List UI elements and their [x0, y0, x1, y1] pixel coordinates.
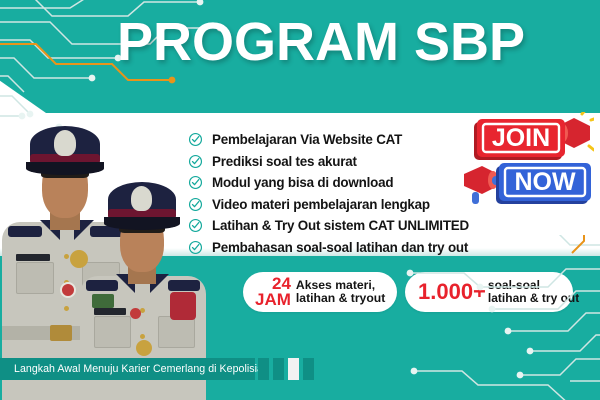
- feature-item: Pembahasan soal-soal latihan dan try out: [188, 238, 518, 257]
- pill-1000-soal-desc: soal-soal latihan & try out: [488, 279, 579, 304]
- pill-unit: JAM: [255, 292, 291, 308]
- pill-24-jam-figure: 24 JAM: [255, 276, 291, 309]
- feature-label: Prediksi soal tes akurat: [212, 154, 357, 169]
- now-text: NOW: [514, 168, 576, 196]
- banner-tick: [303, 358, 314, 380]
- check-circle-icon: [188, 240, 203, 255]
- check-circle-icon: [188, 175, 203, 190]
- check-circle-icon: [188, 197, 203, 212]
- feature-label: Pembahasan soal-soal latihan dan try out: [212, 240, 468, 255]
- pill-24-jam: 24 JAM Akses materi, latihan & tryout: [243, 272, 397, 312]
- join-text: JOIN: [492, 124, 550, 152]
- now-label-box: NOW: [496, 163, 591, 204]
- poster-title: PROGRAM SBP: [0, 14, 600, 71]
- bottom-banner: Langkah Awal Menuju Karier Cemerlang di …: [0, 358, 255, 380]
- feature-label: Latihan & Try Out sistem CAT UNLIMITED: [212, 218, 469, 233]
- pill-number: 1.000+: [418, 279, 486, 305]
- banner-tick: [258, 358, 269, 380]
- banner-text: Langkah Awal Menuju Karier Cemerlang di …: [0, 363, 269, 375]
- check-circle-icon: [188, 154, 203, 169]
- feature-label: Pembelajaran Via Website CAT: [212, 132, 402, 147]
- feature-item: Latihan & Try Out sistem CAT UNLIMITED: [188, 216, 518, 235]
- join-label-box: JOIN: [474, 119, 565, 160]
- join-now-badge[interactable]: JOIN NOW: [462, 112, 594, 212]
- pill-desc-line2: latihan & tryout: [296, 292, 385, 305]
- pill-1000-soal: 1.000+ soal-soal latihan & try out: [405, 272, 573, 312]
- banner-tick: [273, 358, 284, 380]
- check-circle-icon: [188, 132, 203, 147]
- banner-tick-marks: [258, 358, 314, 380]
- check-circle-icon: [188, 218, 203, 233]
- poster-canvas: PROGRAM SBP: [0, 0, 600, 400]
- feature-label: Modul yang bisa di download: [212, 175, 393, 190]
- banner-tick-active: [288, 358, 299, 380]
- pill-24-jam-desc: Akses materi, latihan & tryout: [296, 279, 385, 305]
- feature-label: Video materi pembelajaran lengkap: [212, 197, 430, 212]
- pill-desc-line2: latihan & try out: [488, 292, 579, 305]
